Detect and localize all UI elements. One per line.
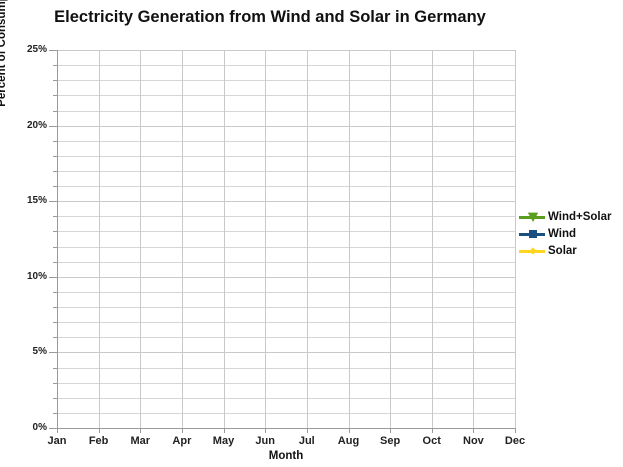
y-axis-minor-tick: [53, 156, 57, 157]
gridline-horizontal: [57, 141, 515, 142]
legend-swatch: [519, 208, 545, 225]
plot-background: [57, 50, 515, 428]
y-axis-title: Percent of Consumption: [0, 0, 8, 140]
legend-item[interactable]: Solar: [519, 242, 623, 259]
y-axis-minor-tick: [53, 413, 57, 414]
x-axis-tick: [390, 428, 391, 433]
y-axis-minor-tick: [53, 95, 57, 96]
y-axis-tick: [49, 50, 57, 51]
gridline-vertical: [182, 50, 183, 428]
square-marker: [529, 230, 537, 238]
y-axis-tick-label: 10%: [1, 271, 47, 282]
y-axis-minor-tick: [53, 216, 57, 217]
chart-title: Electricity Generation from Wind and Sol…: [0, 8, 540, 27]
y-axis-tick: [49, 352, 57, 353]
gridline-horizontal: [57, 65, 515, 66]
x-axis-tick: [99, 428, 100, 433]
gridline-horizontal: [57, 95, 515, 96]
gridline-vertical: [515, 50, 516, 428]
gridline-horizontal: [57, 277, 515, 278]
legend-label: Wind+Solar: [545, 211, 611, 223]
x-axis-tick: [473, 428, 474, 433]
legend-swatch: [519, 242, 545, 259]
y-axis-tick-label: 5%: [1, 346, 47, 357]
gridline-horizontal: [57, 156, 515, 157]
y-axis-tick: [49, 126, 57, 127]
gridline-horizontal: [57, 126, 515, 127]
gridline-vertical: [265, 50, 266, 428]
x-axis-tick: [57, 428, 58, 433]
y-axis-minor-tick: [53, 337, 57, 338]
y-axis-minor-tick: [53, 262, 57, 263]
x-axis-tick: [182, 428, 183, 433]
x-axis-tick: [140, 428, 141, 433]
gridline-horizontal: [57, 247, 515, 248]
y-axis-minor-tick: [53, 171, 57, 172]
square-marker: [528, 229, 538, 239]
gridline-horizontal: [57, 322, 515, 323]
legend-label: Wind: [545, 228, 576, 240]
gridline-horizontal: [57, 307, 515, 308]
gridline-horizontal: [57, 292, 515, 293]
diamond-marker: [529, 247, 536, 254]
triangle-down-marker: [528, 212, 538, 222]
gridline-horizontal: [57, 352, 515, 353]
gridline-horizontal: [57, 231, 515, 232]
legend-label: Solar: [545, 245, 577, 257]
diamond-marker: [528, 246, 538, 256]
gridline-horizontal: [57, 262, 515, 263]
gridline-vertical: [99, 50, 100, 428]
x-axis-tick-label: Dec: [489, 435, 541, 447]
x-axis-tick: [432, 428, 433, 433]
gridline-horizontal: [57, 337, 515, 338]
y-axis-minor-tick: [53, 247, 57, 248]
x-axis-line: [57, 428, 515, 429]
y-axis-minor-tick: [53, 398, 57, 399]
gridline-horizontal: [57, 171, 515, 172]
x-axis-tick: [307, 428, 308, 433]
gridline-horizontal: [57, 80, 515, 81]
y-axis-tick: [49, 201, 57, 202]
gridline-horizontal: [57, 186, 515, 187]
y-axis-minor-tick: [53, 65, 57, 66]
y-axis-minor-tick: [53, 231, 57, 232]
gridline-vertical: [140, 50, 141, 428]
gridline-horizontal: [57, 398, 515, 399]
gridline-vertical: [473, 50, 474, 428]
y-axis-tick: [49, 277, 57, 278]
y-axis-minor-tick: [53, 186, 57, 187]
y-axis-minor-tick: [53, 383, 57, 384]
legend-item[interactable]: Wind: [519, 225, 623, 242]
triangle-down-marker: [528, 213, 538, 222]
y-axis-minor-tick: [53, 307, 57, 308]
gridline-vertical: [349, 50, 350, 428]
x-axis-tick: [349, 428, 350, 433]
gridline-horizontal: [57, 413, 515, 414]
chart-container: Electricity Generation from Wind and Sol…: [0, 0, 623, 467]
x-axis-tick: [515, 428, 516, 433]
chart-legend: Wind+SolarWindSolar: [519, 208, 623, 259]
gridline-horizontal: [57, 111, 515, 112]
y-axis-tick: [49, 428, 57, 429]
gridline-horizontal: [57, 201, 515, 202]
gridline-vertical: [390, 50, 391, 428]
x-axis-title: Month: [57, 450, 515, 462]
y-axis-tick-label: 0%: [1, 422, 47, 433]
y-axis-minor-tick: [53, 141, 57, 142]
x-axis-tick: [265, 428, 266, 433]
gridline-horizontal: [57, 383, 515, 384]
gridline-horizontal: [57, 50, 515, 51]
y-axis-tick-label: 15%: [1, 195, 47, 206]
y-axis-minor-tick: [53, 322, 57, 323]
y-axis-minor-tick: [53, 368, 57, 369]
gridline-vertical: [224, 50, 225, 428]
legend-item[interactable]: Wind+Solar: [519, 208, 623, 225]
x-axis-tick: [224, 428, 225, 433]
gridline-horizontal: [57, 216, 515, 217]
y-axis-minor-tick: [53, 80, 57, 81]
y-axis-line: [57, 50, 58, 429]
y-axis-minor-tick: [53, 292, 57, 293]
legend-swatch: [519, 225, 545, 242]
gridline-horizontal: [57, 368, 515, 369]
gridline-vertical: [432, 50, 433, 428]
plot-area: [57, 50, 515, 428]
gridline-vertical: [307, 50, 308, 428]
y-axis-minor-tick: [53, 111, 57, 112]
